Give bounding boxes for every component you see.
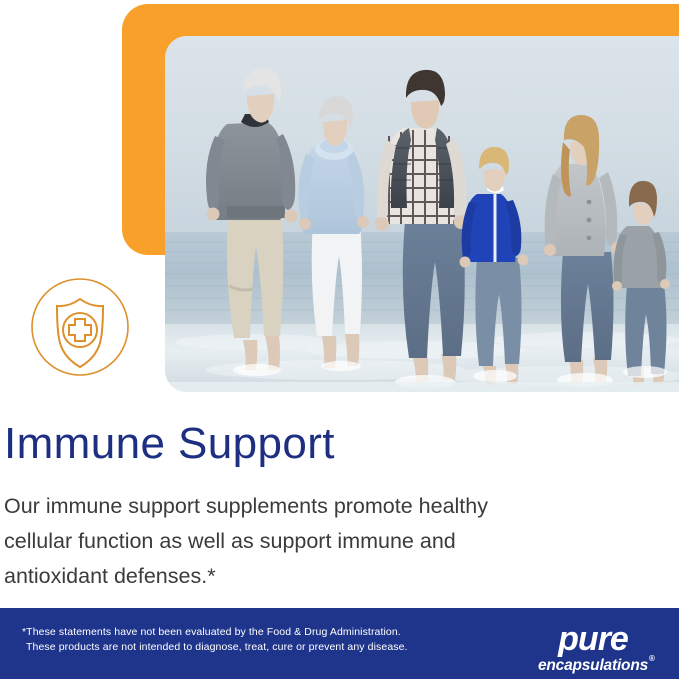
registered-trademark-icon: ® — [649, 654, 655, 663]
description-line-1: Our immune support supplements promote h… — [4, 489, 634, 524]
brand-wordmark-pure: pure — [523, 622, 663, 656]
description-line-2: cellular function as well as support imm… — [4, 524, 634, 559]
immune-support-marketing-banner: Immune Support Our immune support supple… — [0, 0, 679, 679]
description-line-3: antioxidant defenses.* — [4, 559, 634, 594]
description-text: Our immune support supplements promote h… — [4, 489, 634, 594]
brand-wordmark-encapsulations: encapsulations — [538, 657, 648, 674]
disclaimer-line-1: *These statements have not been evaluate… — [22, 625, 408, 640]
shield-medical-cross-icon — [30, 277, 130, 377]
page-title: Immune Support — [4, 418, 335, 470]
pure-encapsulations-logo: pure encapsulations® — [523, 622, 663, 675]
fda-disclaimer: *These statements have not been evaluate… — [22, 625, 408, 655]
hero-photo-family-at-beach — [165, 36, 679, 392]
beach-scene-illustration — [165, 36, 679, 392]
disclaimer-line-2: These products are not intended to diagn… — [22, 640, 408, 655]
footer-bar: *These statements have not been evaluate… — [0, 608, 679, 679]
brand-subword-wrap: encapsulations® — [523, 657, 663, 675]
shield-icon-graphic — [30, 277, 130, 377]
